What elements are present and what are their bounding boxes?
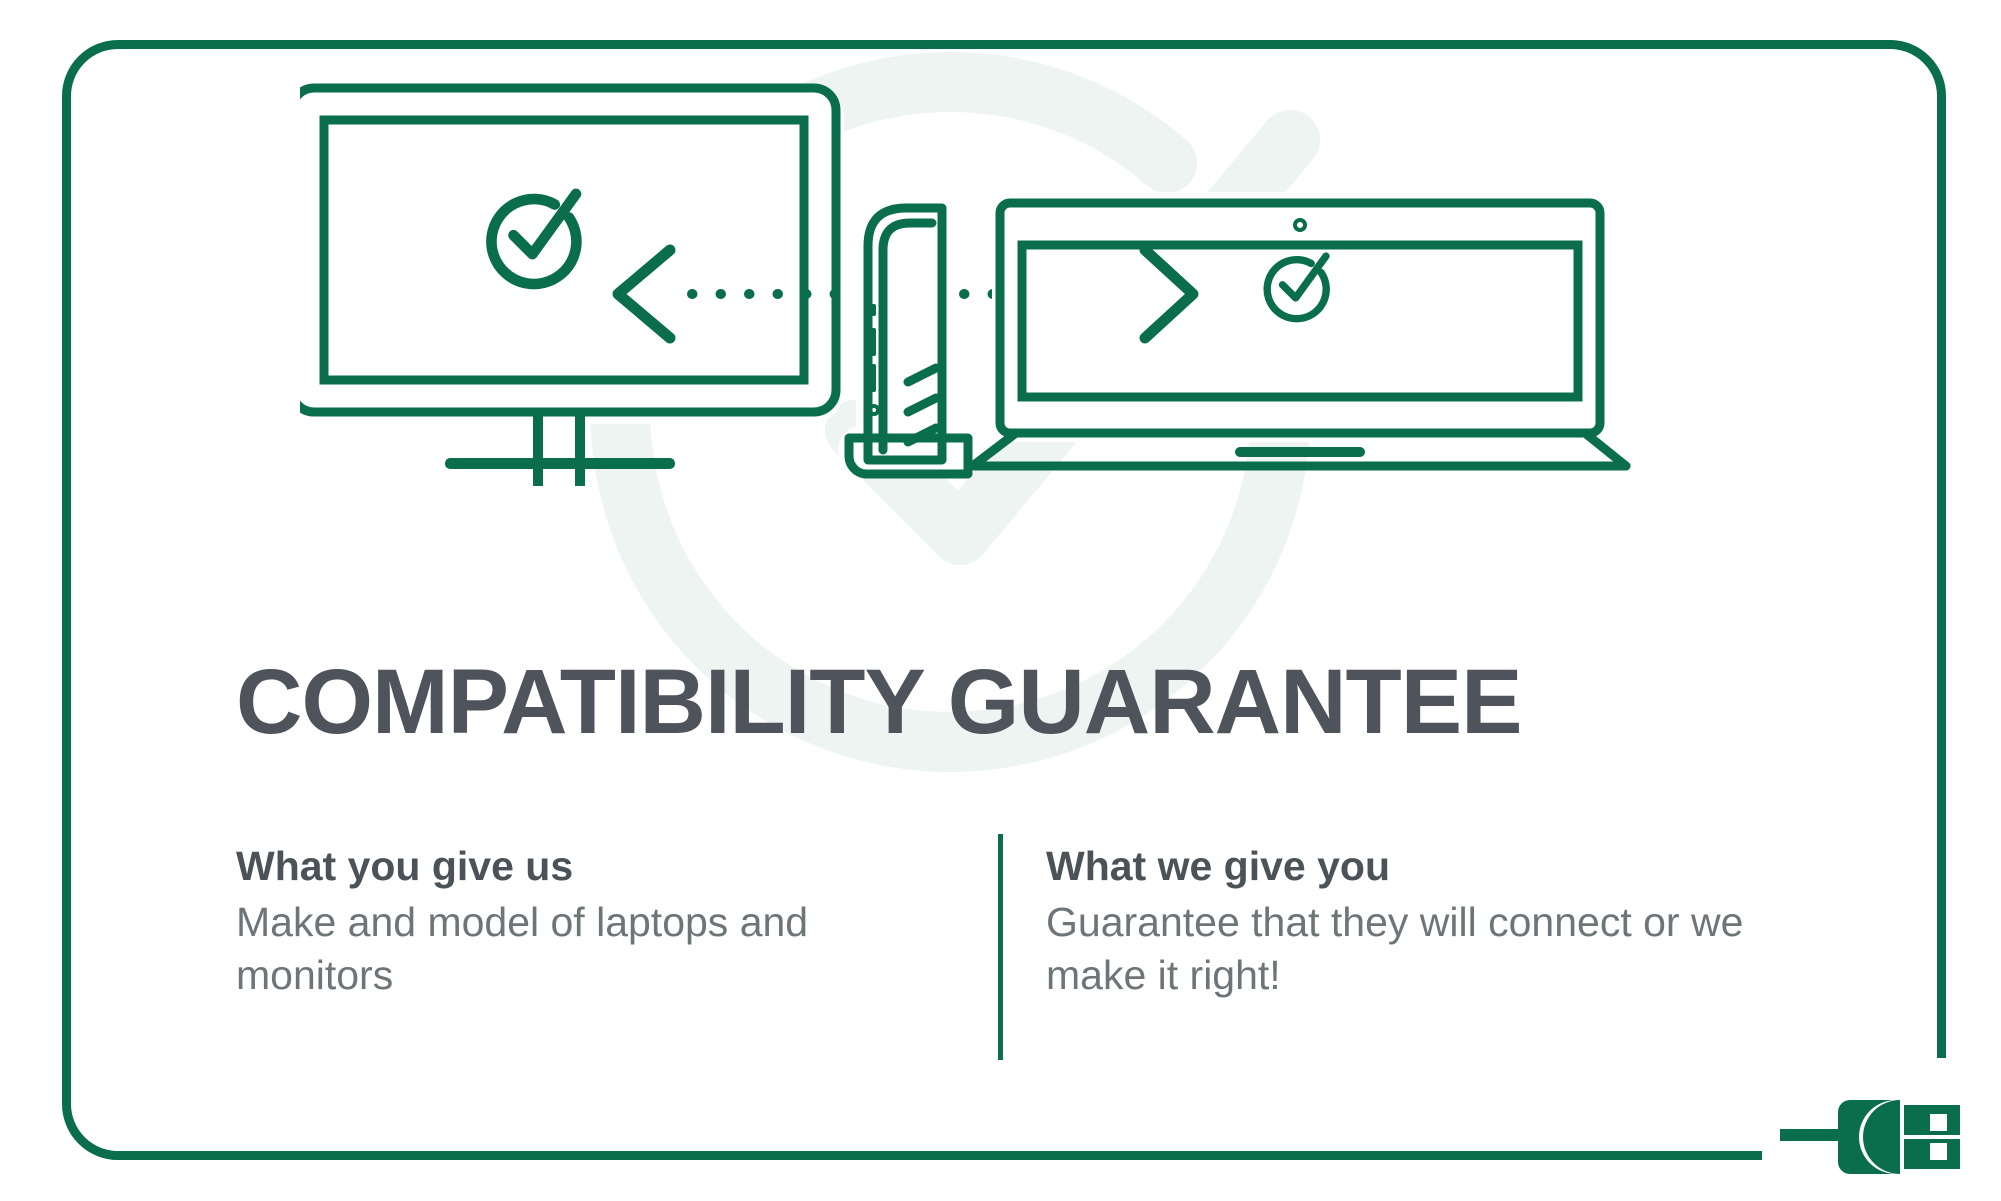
columns-container: What you give us Make and model of lapto… [236,840,1796,1070]
dock-icon [838,188,978,476]
infographic-card: COMPATIBILITY GUARANTEE What you give us… [0,0,2001,1201]
column-what-we-give-you: What we give you Guarantee that they wil… [1046,840,1766,1001]
usb-cable-stub [1780,1129,1844,1141]
illustration-group [300,70,1720,520]
usb-connector-logo-icon [1838,1100,1960,1174]
laptop-icon [973,192,1627,467]
column-right-heading: What we give you [1046,840,1766,892]
column-left-body: Make and model of laptops and monitors [236,896,936,1001]
column-left-heading: What you give us [236,840,936,892]
page-title: COMPATIBILITY GUARANTEE [236,656,1796,748]
monitor-icon [300,84,844,486]
column-right-body: Guarantee that they will connect or we m… [1046,896,1766,1001]
column-what-you-give-us: What you give us Make and model of lapto… [236,840,936,1001]
